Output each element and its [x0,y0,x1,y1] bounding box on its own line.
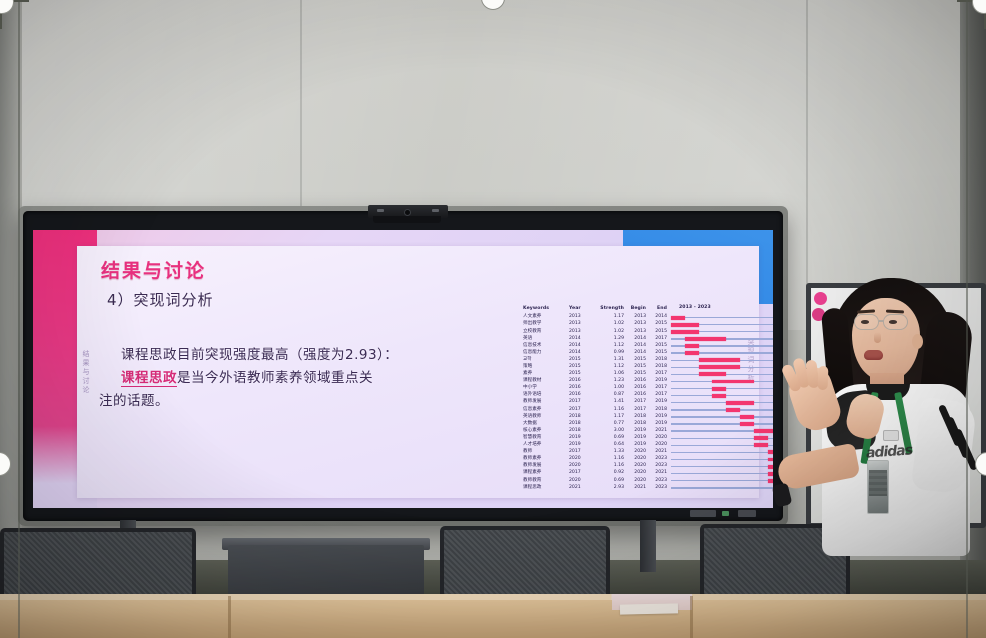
shirt-chest-logo [883,430,899,441]
burst-begin: 2018 [627,415,649,420]
burst-table-row: 信息技术20141.1220142015 [523,342,773,349]
burst-year: 2017 [569,400,593,405]
burst-timeline [671,357,773,364]
burst-table-row: 大数据20180.7720182019 [523,421,773,428]
burst-begin: 2016 [627,379,649,384]
burst-end: 2020 [649,443,671,448]
burst-timeline-axis [671,466,773,467]
burst-timeline [671,456,773,463]
burst-year: 2013 [569,322,593,327]
burst-end: 2015 [649,344,671,349]
burst-year: 2017 [569,450,593,455]
burst-strength: 0.69 [593,436,627,441]
burst-keyword: 课程思政 [523,486,569,491]
burst-period-bar [699,358,740,362]
front-table [0,596,986,638]
burst-end: 2015 [649,330,671,335]
burst-strength: 1.02 [593,322,627,327]
burst-begin: 2014 [627,337,649,342]
burst-strength: 2.93 [593,486,627,491]
burst-strength: 1.17 [593,415,627,420]
burst-period-bar [740,422,754,426]
burst-year: 2015 [569,358,593,363]
burst-period-bar [685,337,726,341]
burst-end: 2023 [649,464,671,469]
burst-period-bar [699,372,727,376]
burst-year: 2018 [569,415,593,420]
burst-year: 2020 [569,457,593,462]
burst-begin: 2019 [627,429,649,434]
burst-period-bar [685,344,699,348]
burst-year: 2016 [569,393,593,398]
id-badge-text-lines [869,470,887,496]
burst-keyword: 素养 [523,372,569,377]
burst-year: 2013 [569,330,593,335]
burst-begin: 2014 [627,344,649,349]
burst-period-bar [712,380,753,384]
burst-begin: 2019 [627,436,649,441]
burst-keyword: 教师素养 [523,457,569,462]
burst-begin: 2020 [627,450,649,455]
burst-period-bar [671,323,699,327]
display-stand-leg [640,520,656,572]
burst-table-row: 师出教学20131.0220132015 [523,321,773,328]
burst-strength: 1.06 [593,372,627,377]
burst-end: 2019 [649,422,671,427]
burst-timeline-axis [671,459,773,460]
burst-table-row: 立校教育20131.0220132015 [523,328,773,335]
burst-strength: 1.16 [593,408,627,413]
burst-timeline [671,449,773,456]
highlighted-term: 课程思政 [121,370,177,387]
burst-begin: 2016 [627,393,649,398]
burst-period-bar [699,365,740,369]
burst-keyword: 策略 [523,365,569,370]
burst-table-row: 信息能力20140.9920142015 [523,350,773,357]
burst-year: 2019 [569,443,593,448]
burst-strength: 1.12 [593,365,627,370]
burst-end: 2023 [649,486,671,491]
burst-keyword: 信息素养 [523,408,569,413]
burst-keyword: 教师发展 [523,464,569,469]
classroom-scene: 结果与讨论 4）突现词分析 课程思政目前突现强度最高（强度为2.93）： 课程思… [0,0,986,638]
burst-year: 2021 [569,486,593,491]
burst-end: 2018 [649,408,671,413]
burst-timeline [671,406,773,413]
col-header-begin: Begin [627,307,649,312]
burst-keyword: 人才培养 [523,443,569,448]
burst-end: 2019 [649,415,671,420]
burst-timeline [671,371,773,378]
burst-keyword: 课程素养 [523,471,569,476]
burst-table-row: 素养20151.0620152017 [523,371,773,378]
burst-timeline [671,342,773,349]
burst-timeline [671,385,773,392]
burst-timeline-axis [671,317,773,318]
burst-period-bar [712,387,726,391]
burst-end: 2015 [649,351,671,356]
burst-strength: 1.00 [593,386,627,391]
burst-table-row: 课程教材20161.2320162019 [523,378,773,385]
paper-sheet [620,603,678,614]
burst-table-row: 人才培养20190.6420192020 [523,442,773,449]
burst-end: 2017 [649,337,671,342]
burst-keyword: 大数据 [523,422,569,427]
burst-timeline [671,470,773,477]
burst-year: 2020 [569,464,593,469]
burst-strength: 1.17 [593,315,627,320]
burst-year: 2018 [569,422,593,427]
burst-period-bar [685,351,699,355]
burst-strength: 1.16 [593,464,627,469]
burst-end: 2018 [649,365,671,370]
burst-end: 2017 [649,372,671,377]
burst-timeline [671,378,773,385]
burst-strength: 3.00 [593,429,627,434]
burst-year: 2015 [569,365,593,370]
burst-timeline-axis [671,487,773,488]
slide-body-line-2: 课程思政是当今外语教师素养领域重点关 [99,367,399,390]
burst-end: 2017 [649,386,671,391]
burst-end: 2017 [649,393,671,398]
burst-table-row: 语外语培20160.8720162017 [523,392,773,399]
burst-year: 2016 [569,379,593,384]
burst-end: 2014 [649,315,671,320]
burst-end: 2021 [649,429,671,434]
burst-begin: 2020 [627,471,649,476]
burst-timeline-axis [671,409,773,410]
burst-table-row: 英语教师20181.1720182019 [523,413,773,420]
slide-subtitle: 4）突现词分析 [107,289,214,310]
burst-keyword: 中小学 [523,386,569,391]
slide-content-card: 结果与讨论 4）突现词分析 课程思政目前突现强度最高（强度为2.93）： 课程思… [77,246,759,498]
display-port-mark [738,510,756,517]
burst-strength: 0.99 [593,351,627,356]
burst-timeline-axis [671,452,773,453]
burst-timeline [671,413,773,420]
presenter-ear [912,334,923,349]
burst-keyword: 教师教育 [523,479,569,484]
burst-strength: 1.29 [593,337,627,342]
burst-begin: 2021 [627,486,649,491]
slide-title: 结果与讨论 [101,256,206,283]
burst-year: 2014 [569,344,593,349]
burst-end: 2023 [649,457,671,462]
glasses-lens-left [854,314,879,330]
col-header-year: Year [569,307,593,312]
burst-strength: 1.33 [593,450,627,455]
burst-end: 2021 [649,471,671,476]
burst-begin: 2020 [627,464,649,469]
burst-strength: 0.69 [593,479,627,484]
burst-table-row: 教师20171.3320202021 [523,449,773,456]
burst-timeline [671,314,773,321]
burst-timeline [671,463,773,470]
burst-year: 2015 [569,372,593,377]
burst-year: 2017 [569,408,593,413]
burst-year: 2018 [569,429,593,434]
citation-burst-table: Keywords Year Strength Begin End 2013 - … [523,306,773,491]
burst-keyword: 核心素养 [523,429,569,434]
burst-table-row: 信息素养20171.1620172018 [523,406,773,413]
burst-keyword: 课程教材 [523,379,569,384]
presenter: adidas [770,272,986,600]
burst-timeline [671,335,773,342]
burst-end: 2020 [649,436,671,441]
burst-table-row: 智慧教育20190.6920192020 [523,435,773,442]
burst-timeline [671,421,773,428]
slide-body-line-3: 注的话题。 [99,390,399,413]
burst-keyword: 교학 [523,358,569,363]
burst-timeline [671,477,773,484]
burst-table-row: 教师发展20201.1620202023 [523,463,773,470]
burst-begin: 2019 [627,443,649,448]
burst-end: 2015 [649,322,671,327]
burst-keyword: 信息能力 [523,351,569,356]
burst-strength: 1.41 [593,400,627,405]
burst-begin: 2014 [627,351,649,356]
col-header-strength: Strength [593,307,627,312]
display-screen[interactable]: 结果与讨论 4）突现词分析 课程思政目前突现强度最高（强度为2.93）： 课程思… [33,230,773,508]
burst-strength: 0.77 [593,422,627,427]
burst-table-row: 课程素养20170.9220202021 [523,470,773,477]
burst-table-row: 教师素养20201.1620202023 [523,456,773,463]
burst-end: 2018 [649,358,671,363]
burst-begin: 2016 [627,386,649,391]
burst-table-rows: 人文素养20131.1720132014师出教学20131.0220132015… [523,314,773,491]
burst-table-row: 教师发展20171.4120172019 [523,399,773,406]
burst-keyword: 教师 [523,450,569,455]
burst-year: 2014 [569,351,593,356]
burst-strength: 1.12 [593,344,627,349]
burst-timeline [671,428,773,435]
burst-end: 2019 [649,400,671,405]
burst-strength: 1.02 [593,330,627,335]
burst-year: 2019 [569,436,593,441]
burst-table-row: 策略20151.1220152018 [523,364,773,371]
presentation-slide: 结果与讨论 4）突现词分析 课程思政目前突现强度最高（强度为2.93）： 课程思… [33,230,773,508]
burst-timeline-axis [671,402,773,403]
burst-table-header: Keywords Year Strength Begin End 2013 - … [523,306,773,313]
burst-period-bar [754,436,768,440]
burst-keyword: 教师发展 [523,400,569,405]
burst-table-row: 英语20141.2920142017 [523,335,773,342]
finger [818,366,829,390]
burst-end: 2021 [649,450,671,455]
burst-begin: 2017 [627,408,649,413]
burst-begin: 2013 [627,322,649,327]
burst-strength: 1.31 [593,358,627,363]
webcam-lens-strip [373,216,441,223]
burst-strength: 0.92 [593,471,627,476]
col-header-keywords: Keywords [523,307,569,312]
burst-timeline [671,435,773,442]
burst-begin: 2013 [627,330,649,335]
burst-keyword: 英语教师 [523,415,569,420]
burst-strength: 1.23 [593,379,627,384]
burst-end: 2023 [649,479,671,484]
burst-timeline-axis [671,416,773,417]
burst-strength: 0.87 [593,393,627,398]
burst-table-row: 教师教育20200.6920202023 [523,477,773,484]
glasses-lens-right [883,314,908,330]
burst-begin: 2013 [627,315,649,320]
burst-timeline [671,364,773,371]
burst-period-bar [712,394,726,398]
burst-timeline [671,392,773,399]
burst-table-row: 人文素养20131.1720132014 [523,314,773,321]
slide-side-label-left: 结果与讨论 [81,350,91,395]
burst-year: 2017 [569,471,593,476]
table-seam [690,596,693,638]
burst-begin: 2015 [627,365,649,370]
burst-year: 2020 [569,479,593,484]
burst-timeline-axis [671,480,773,481]
burst-table-row: 课程思政20212.9320212023 [523,484,773,491]
burst-keyword: 立校教育 [523,330,569,335]
display-brand-mark [690,510,716,517]
burst-timeline-axis [671,423,773,424]
burst-keyword: 语外语培 [523,393,569,398]
shirt-brand-text: adidas [865,442,912,461]
burst-period-bar [754,443,768,447]
glasses-bridge [879,320,884,322]
burst-strength: 0.64 [593,443,627,448]
burst-timeline-axis [671,473,773,474]
presenter-mouth [864,350,883,360]
camera-icon [404,209,411,216]
burst-table-row: 核心素养20183.0020192021 [523,428,773,435]
burst-period-bar [726,401,754,405]
burst-timeline [671,399,773,406]
table-seam [228,596,231,638]
burst-period-bar [726,408,740,412]
burst-begin: 2020 [627,479,649,484]
col-header-end: End [649,307,671,312]
slide-body-line-2-rest: 是当今外语教师素养领域重点关 [177,370,373,386]
col-header-timeline: 2013 - 2023 [671,306,773,313]
burst-table-row: 中小学20161.0020162017 [523,385,773,392]
presenter-nose [874,332,881,343]
burst-period-bar [671,330,699,334]
burst-keyword: 师出教学 [523,322,569,327]
burst-timeline [671,442,773,449]
burst-period-bar [671,316,685,320]
burst-year: 2013 [569,315,593,320]
burst-begin: 2020 [627,457,649,462]
burst-timeline [671,328,773,335]
burst-keyword: 智慧教育 [523,436,569,441]
burst-end: 2019 [649,379,671,384]
burst-begin: 2017 [627,400,649,405]
burst-begin: 2015 [627,372,649,377]
burst-keyword: 人文素养 [523,315,569,320]
burst-begin: 2018 [627,422,649,427]
power-led-icon [722,511,729,516]
burst-strength: 1.16 [593,457,627,462]
burst-keyword: 信息技术 [523,344,569,349]
burst-period-bar [740,415,754,419]
slide-body-line-1: 课程思政目前突现强度最高（强度为2.93）： [99,344,399,367]
burst-timeline [671,350,773,357]
burst-table-row: 교학20151.3120152018 [523,357,773,364]
burst-keyword: 英语 [523,337,569,342]
burst-timeline [671,484,773,491]
burst-begin: 2015 [627,358,649,363]
burst-timeline [671,321,773,328]
burst-year: 2016 [569,386,593,391]
slide-body-text: 课程思政目前突现强度最高（强度为2.93）： 课程思政是当今外语教师素养领域重点… [99,344,399,413]
burst-year: 2014 [569,337,593,342]
